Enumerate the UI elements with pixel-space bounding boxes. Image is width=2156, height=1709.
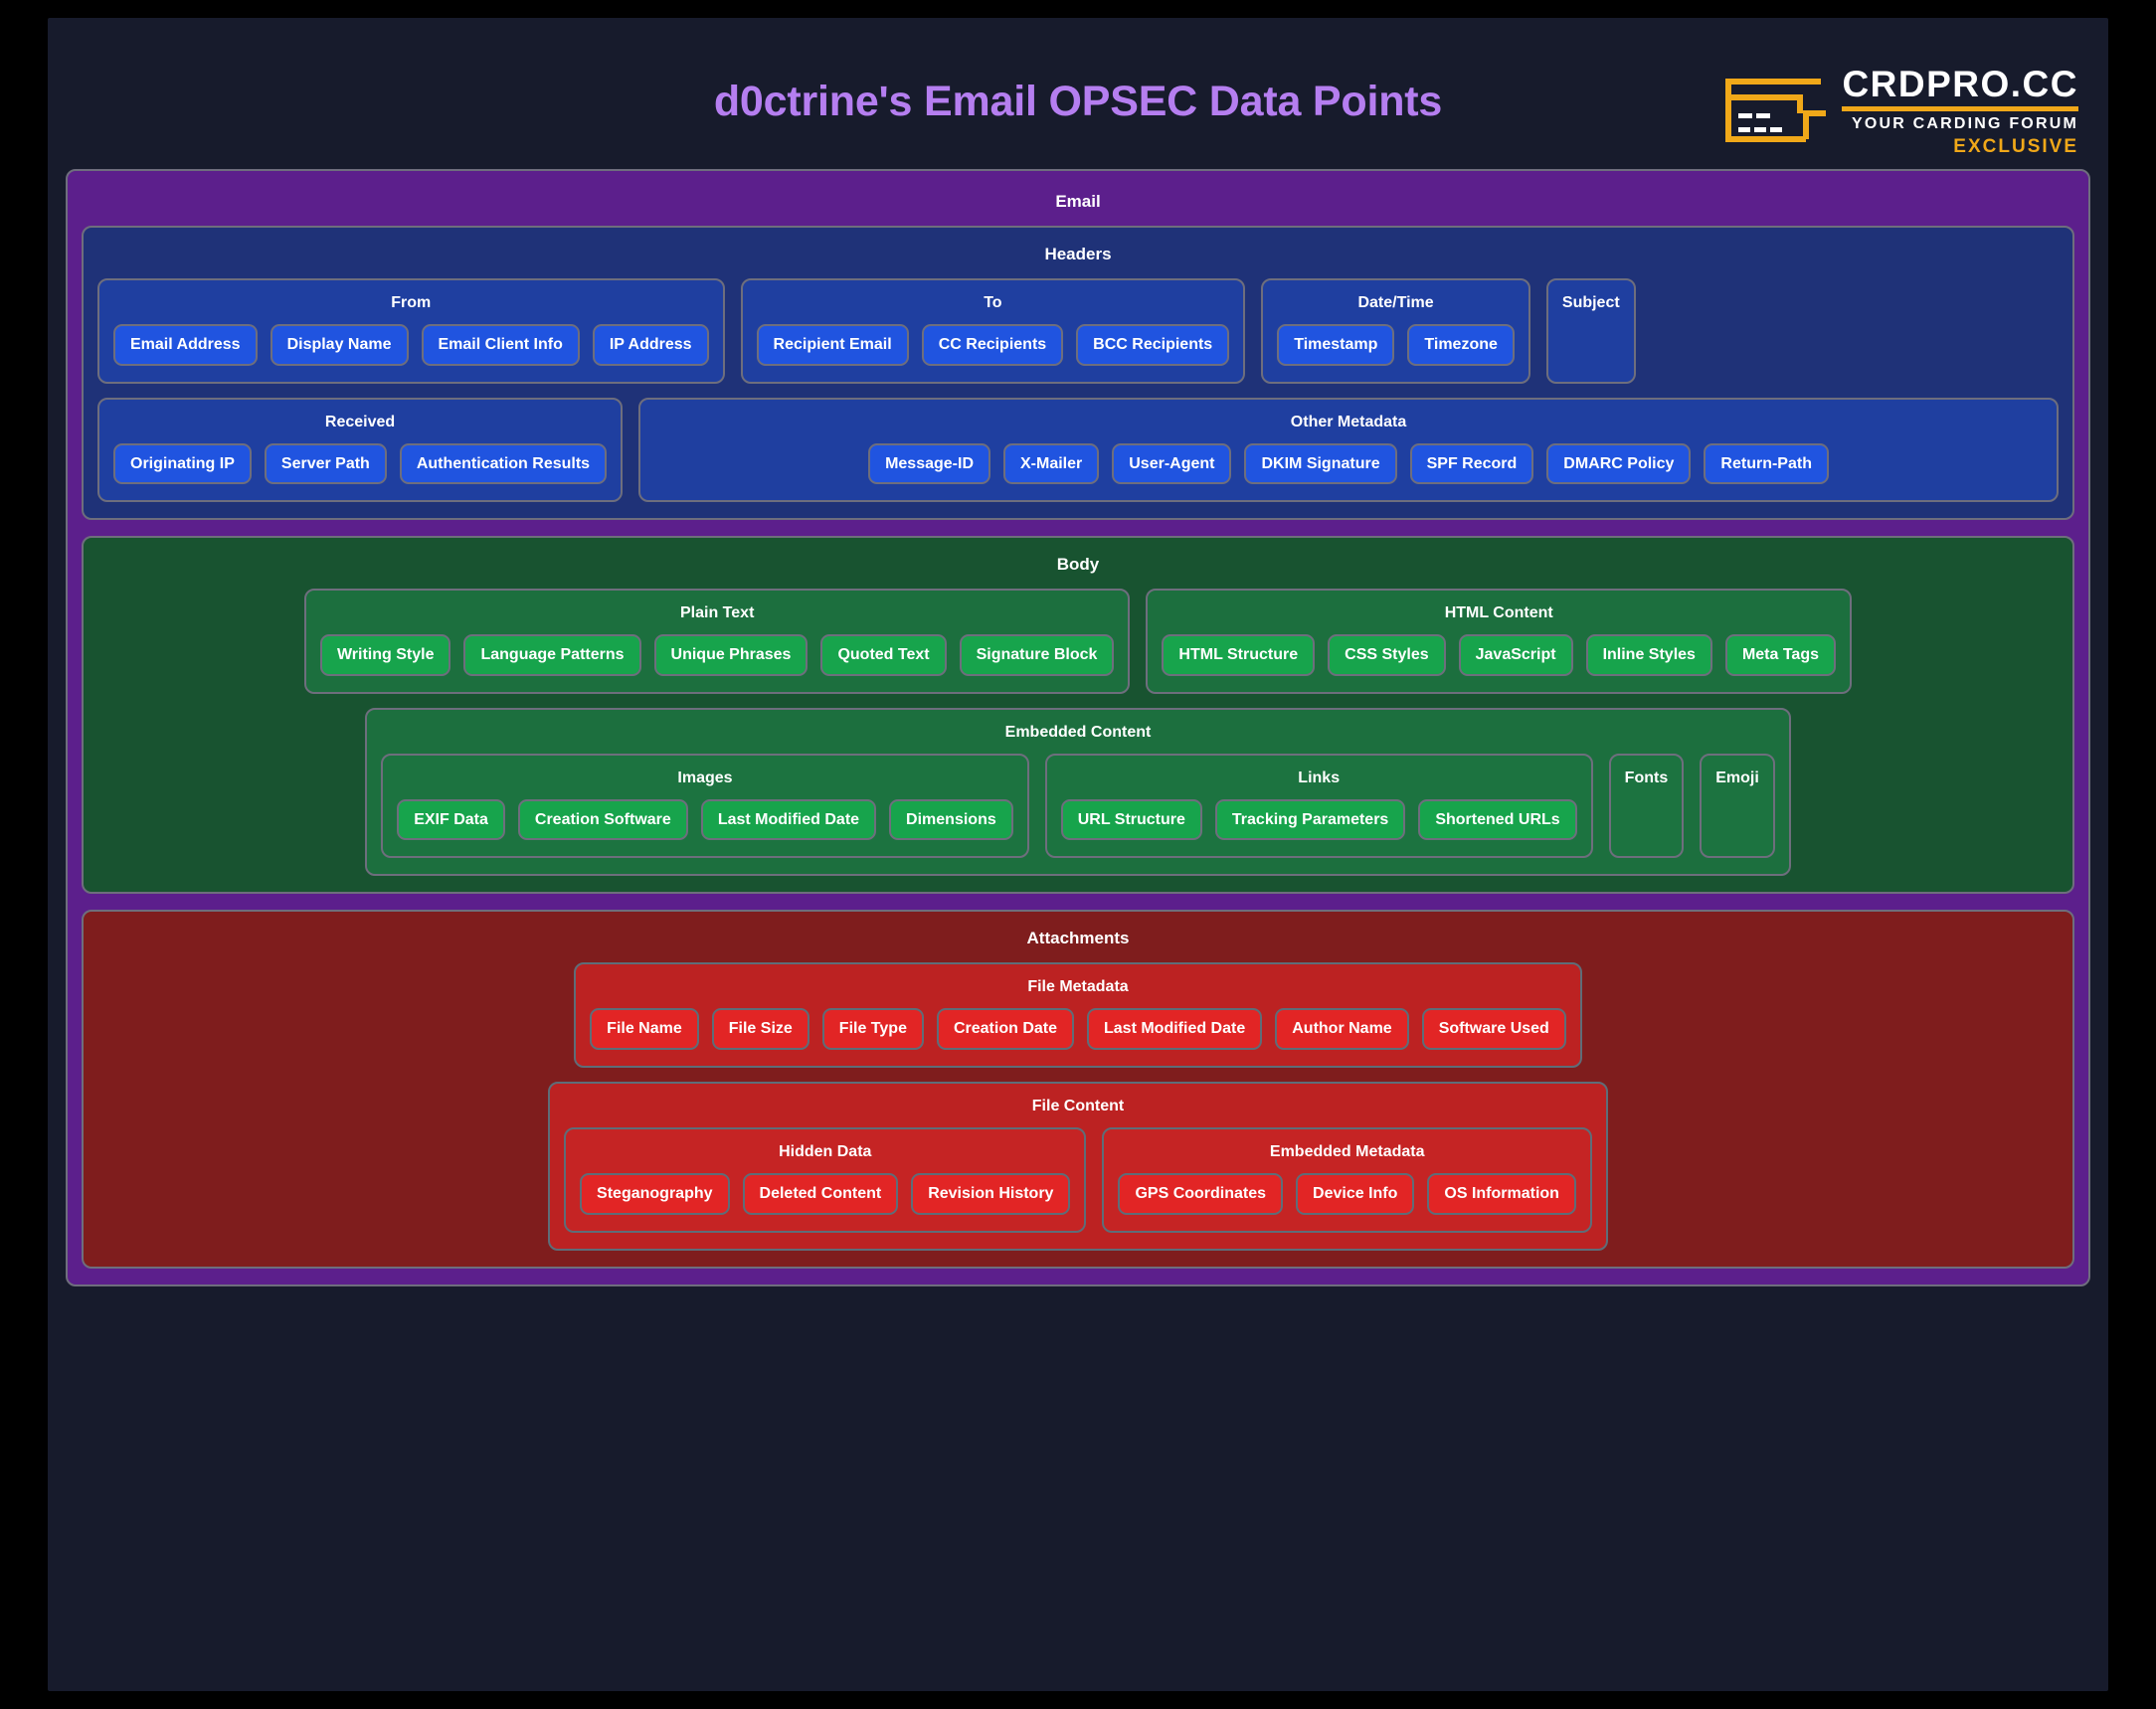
group-file-content: File Content Hidden Data Steganography D…	[548, 1082, 1608, 1251]
leaf-recipient-email[interactable]: Recipient Email	[757, 324, 909, 366]
node-attachments: Attachments File Metadata File Name File…	[82, 910, 2074, 1268]
group-embedded-content-label: Embedded Content	[381, 724, 1775, 742]
group-file-metadata-label: File Metadata	[590, 978, 1566, 996]
leaf-user-agent[interactable]: User-Agent	[1112, 443, 1231, 485]
group-from: From Email Address Display Name Email Cl…	[97, 278, 725, 384]
node-email-label: Email	[82, 192, 2074, 212]
node-headers-label: Headers	[97, 245, 2059, 264]
group-file-metadata-leaves: File Name File Size File Type Creation D…	[590, 1008, 1566, 1050]
leaf-timezone[interactable]: Timezone	[1407, 324, 1515, 366]
node-email: Email Headers From Email Address Display…	[66, 169, 2090, 1286]
group-from-label: From	[113, 294, 709, 312]
file-content-children: Hidden Data Steganography Deleted Conten…	[564, 1127, 1592, 1233]
leaf-html-structure[interactable]: HTML Structure	[1162, 634, 1315, 676]
group-links-leaves: URL Structure Tracking Parameters Shorte…	[1061, 799, 1577, 841]
node-attachments-label: Attachments	[97, 929, 2059, 948]
group-hidden-data-leaves: Steganography Deleted Content Revision H…	[580, 1173, 1070, 1215]
leaf-exif-data[interactable]: EXIF Data	[397, 799, 505, 841]
leaf-x-mailer[interactable]: X-Mailer	[1003, 443, 1099, 485]
body-row-1: Plain Text Writing Style Language Patter…	[97, 589, 2059, 694]
group-links: Links URL Structure Tracking Parameters …	[1045, 754, 1593, 859]
leaf-server-path[interactable]: Server Path	[265, 443, 387, 485]
leaf-email-address[interactable]: Email Address	[113, 324, 258, 366]
leaf-signature-block[interactable]: Signature Block	[960, 634, 1115, 676]
brand-divider	[1842, 106, 2078, 111]
group-to-label: To	[757, 294, 1230, 312]
attachments-row-2: File Content Hidden Data Steganography D…	[97, 1082, 2059, 1251]
leaf-return-path[interactable]: Return-Path	[1704, 443, 1829, 485]
leaf-inline-styles[interactable]: Inline Styles	[1586, 634, 1712, 676]
leaf-message-id[interactable]: Message-ID	[868, 443, 990, 485]
group-date-time: Date/Time Timestamp Timezone	[1261, 278, 1530, 384]
page-header: d0ctrine's Email OPSEC Data Points CRDPR…	[48, 18, 2108, 169]
leaf-os-information[interactable]: OS Information	[1427, 1173, 1576, 1215]
diagram-canvas: d0ctrine's Email OPSEC Data Points CRDPR…	[48, 18, 2108, 1691]
leaf-dmarc-policy[interactable]: DMARC Policy	[1546, 443, 1691, 485]
leaf-author-name[interactable]: Author Name	[1275, 1008, 1408, 1050]
leaf-ip-address[interactable]: IP Address	[593, 324, 709, 366]
group-links-label: Links	[1061, 769, 1577, 787]
leaf-file-type[interactable]: File Type	[822, 1008, 924, 1050]
leaf-originating-ip[interactable]: Originating IP	[113, 443, 252, 485]
brand-logo: CRDPRO.CC YOUR CARDING FORUM EXCLUSIVE	[1722, 66, 2078, 158]
leaf-file-size[interactable]: File Size	[712, 1008, 809, 1050]
leaf-unique-phrases[interactable]: Unique Phrases	[654, 634, 808, 676]
group-html-content-label: HTML Content	[1162, 604, 1836, 622]
leaf-url-structure[interactable]: URL Structure	[1061, 799, 1202, 841]
group-embedded-metadata-label: Embedded Metadata	[1118, 1143, 1576, 1161]
leaf-cc-recipients[interactable]: CC Recipients	[922, 324, 1063, 366]
embedded-content-children: Images EXIF Data Creation Software Last …	[381, 754, 1775, 859]
group-fonts-label: Fonts	[1625, 769, 1669, 787]
group-received-leaves: Originating IP Server Path Authenticatio…	[113, 443, 607, 485]
group-file-content-label: File Content	[564, 1098, 1592, 1115]
brand-tagline: YOUR CARDING FORUM	[1852, 115, 2078, 133]
leaf-file-name[interactable]: File Name	[590, 1008, 699, 1050]
leaf-device-info[interactable]: Device Info	[1296, 1173, 1414, 1215]
leaf-last-modified-date-file[interactable]: Last Modified Date	[1087, 1008, 1262, 1050]
leaf-last-modified-date-image[interactable]: Last Modified Date	[701, 799, 876, 841]
group-html-content-leaves: HTML Structure CSS Styles JavaScript Inl…	[1162, 634, 1836, 676]
group-plain-text-label: Plain Text	[320, 604, 1114, 622]
body-row-2: Embedded Content Images EXIF Data Creati…	[97, 708, 2059, 877]
leaf-spf-record[interactable]: SPF Record	[1410, 443, 1534, 485]
leaf-email-client-info[interactable]: Email Client Info	[422, 324, 580, 366]
group-file-metadata: File Metadata File Name File Size File T…	[574, 962, 1582, 1068]
group-fonts: Fonts	[1609, 754, 1685, 859]
leaf-creation-software[interactable]: Creation Software	[518, 799, 688, 841]
group-images: Images EXIF Data Creation Software Last …	[381, 754, 1029, 859]
group-date-time-leaves: Timestamp Timezone	[1277, 324, 1515, 366]
leaf-quoted-text[interactable]: Quoted Text	[820, 634, 946, 676]
leaf-display-name[interactable]: Display Name	[270, 324, 409, 366]
group-subject-label: Subject	[1562, 294, 1620, 312]
group-hidden-data: Hidden Data Steganography Deleted Conten…	[564, 1127, 1086, 1233]
leaf-revision-history[interactable]: Revision History	[911, 1173, 1070, 1215]
group-plain-text-leaves: Writing Style Language Patterns Unique P…	[320, 634, 1114, 676]
leaf-creation-date[interactable]: Creation Date	[937, 1008, 1074, 1050]
leaf-timestamp[interactable]: Timestamp	[1277, 324, 1394, 366]
group-from-leaves: Email Address Display Name Email Client …	[113, 324, 709, 366]
headers-row-2: Received Originating IP Server Path Auth…	[97, 398, 2059, 503]
node-headers: Headers From Email Address Display Name …	[82, 226, 2074, 520]
leaf-dkim-signature[interactable]: DKIM Signature	[1244, 443, 1396, 485]
headers-row-1: From Email Address Display Name Email Cl…	[97, 278, 2059, 384]
leaf-dimensions[interactable]: Dimensions	[889, 799, 1013, 841]
group-subject: Subject	[1546, 278, 1636, 384]
brand-name: CRDPRO.CC	[1842, 66, 2078, 102]
group-emoji-label: Emoji	[1715, 769, 1759, 787]
node-body-label: Body	[97, 555, 2059, 575]
attachments-row-1: File Metadata File Name File Size File T…	[97, 962, 2059, 1068]
leaf-steganography[interactable]: Steganography	[580, 1173, 729, 1215]
group-other-metadata-leaves: Message-ID X-Mailer User-Agent DKIM Sign…	[654, 443, 2043, 485]
group-embedded-content: Embedded Content Images EXIF Data Creati…	[365, 708, 1791, 877]
leaf-deleted-content[interactable]: Deleted Content	[743, 1173, 899, 1215]
group-date-time-label: Date/Time	[1277, 294, 1515, 312]
leaf-javascript[interactable]: JavaScript	[1459, 634, 1573, 676]
brand-text: CRDPRO.CC YOUR CARDING FORUM EXCLUSIVE	[1842, 66, 2078, 158]
group-other-metadata-label: Other Metadata	[654, 414, 2043, 431]
group-images-leaves: EXIF Data Creation Software Last Modifie…	[397, 799, 1013, 841]
leaf-gps-coordinates[interactable]: GPS Coordinates	[1118, 1173, 1283, 1215]
group-to: To Recipient Email CC Recipients BCC Rec…	[741, 278, 1246, 384]
group-to-leaves: Recipient Email CC Recipients BCC Recipi…	[757, 324, 1230, 366]
brand-exclusive-badge: EXCLUSIVE	[1953, 136, 2078, 158]
group-images-label: Images	[397, 769, 1013, 787]
group-hidden-data-label: Hidden Data	[580, 1143, 1070, 1161]
group-html-content: HTML Content HTML Structure CSS Styles J…	[1146, 589, 1852, 694]
leaf-bcc-recipients[interactable]: BCC Recipients	[1076, 324, 1229, 366]
leaf-writing-style[interactable]: Writing Style	[320, 634, 451, 676]
credit-card-icon	[1722, 74, 1830, 152]
group-embedded-metadata-leaves: GPS Coordinates Device Info OS Informati…	[1118, 1173, 1576, 1215]
group-other-metadata: Other Metadata Message-ID X-Mailer User-…	[638, 398, 2059, 503]
leaf-software-used[interactable]: Software Used	[1422, 1008, 1566, 1050]
node-body: Body Plain Text Writing Style Language P…	[82, 536, 2074, 894]
group-emoji: Emoji	[1700, 754, 1775, 859]
leaf-shortened-urls[interactable]: Shortened URLs	[1418, 799, 1576, 841]
leaf-meta-tags[interactable]: Meta Tags	[1725, 634, 1836, 676]
leaf-tracking-parameters[interactable]: Tracking Parameters	[1215, 799, 1405, 841]
leaf-css-styles[interactable]: CSS Styles	[1328, 634, 1445, 676]
group-plain-text: Plain Text Writing Style Language Patter…	[304, 589, 1130, 694]
group-received: Received Originating IP Server Path Auth…	[97, 398, 623, 503]
leaf-authentication-results[interactable]: Authentication Results	[400, 443, 607, 485]
leaf-language-patterns[interactable]: Language Patterns	[463, 634, 640, 676]
group-embedded-metadata: Embedded Metadata GPS Coordinates Device…	[1102, 1127, 1592, 1233]
group-received-label: Received	[113, 414, 607, 431]
